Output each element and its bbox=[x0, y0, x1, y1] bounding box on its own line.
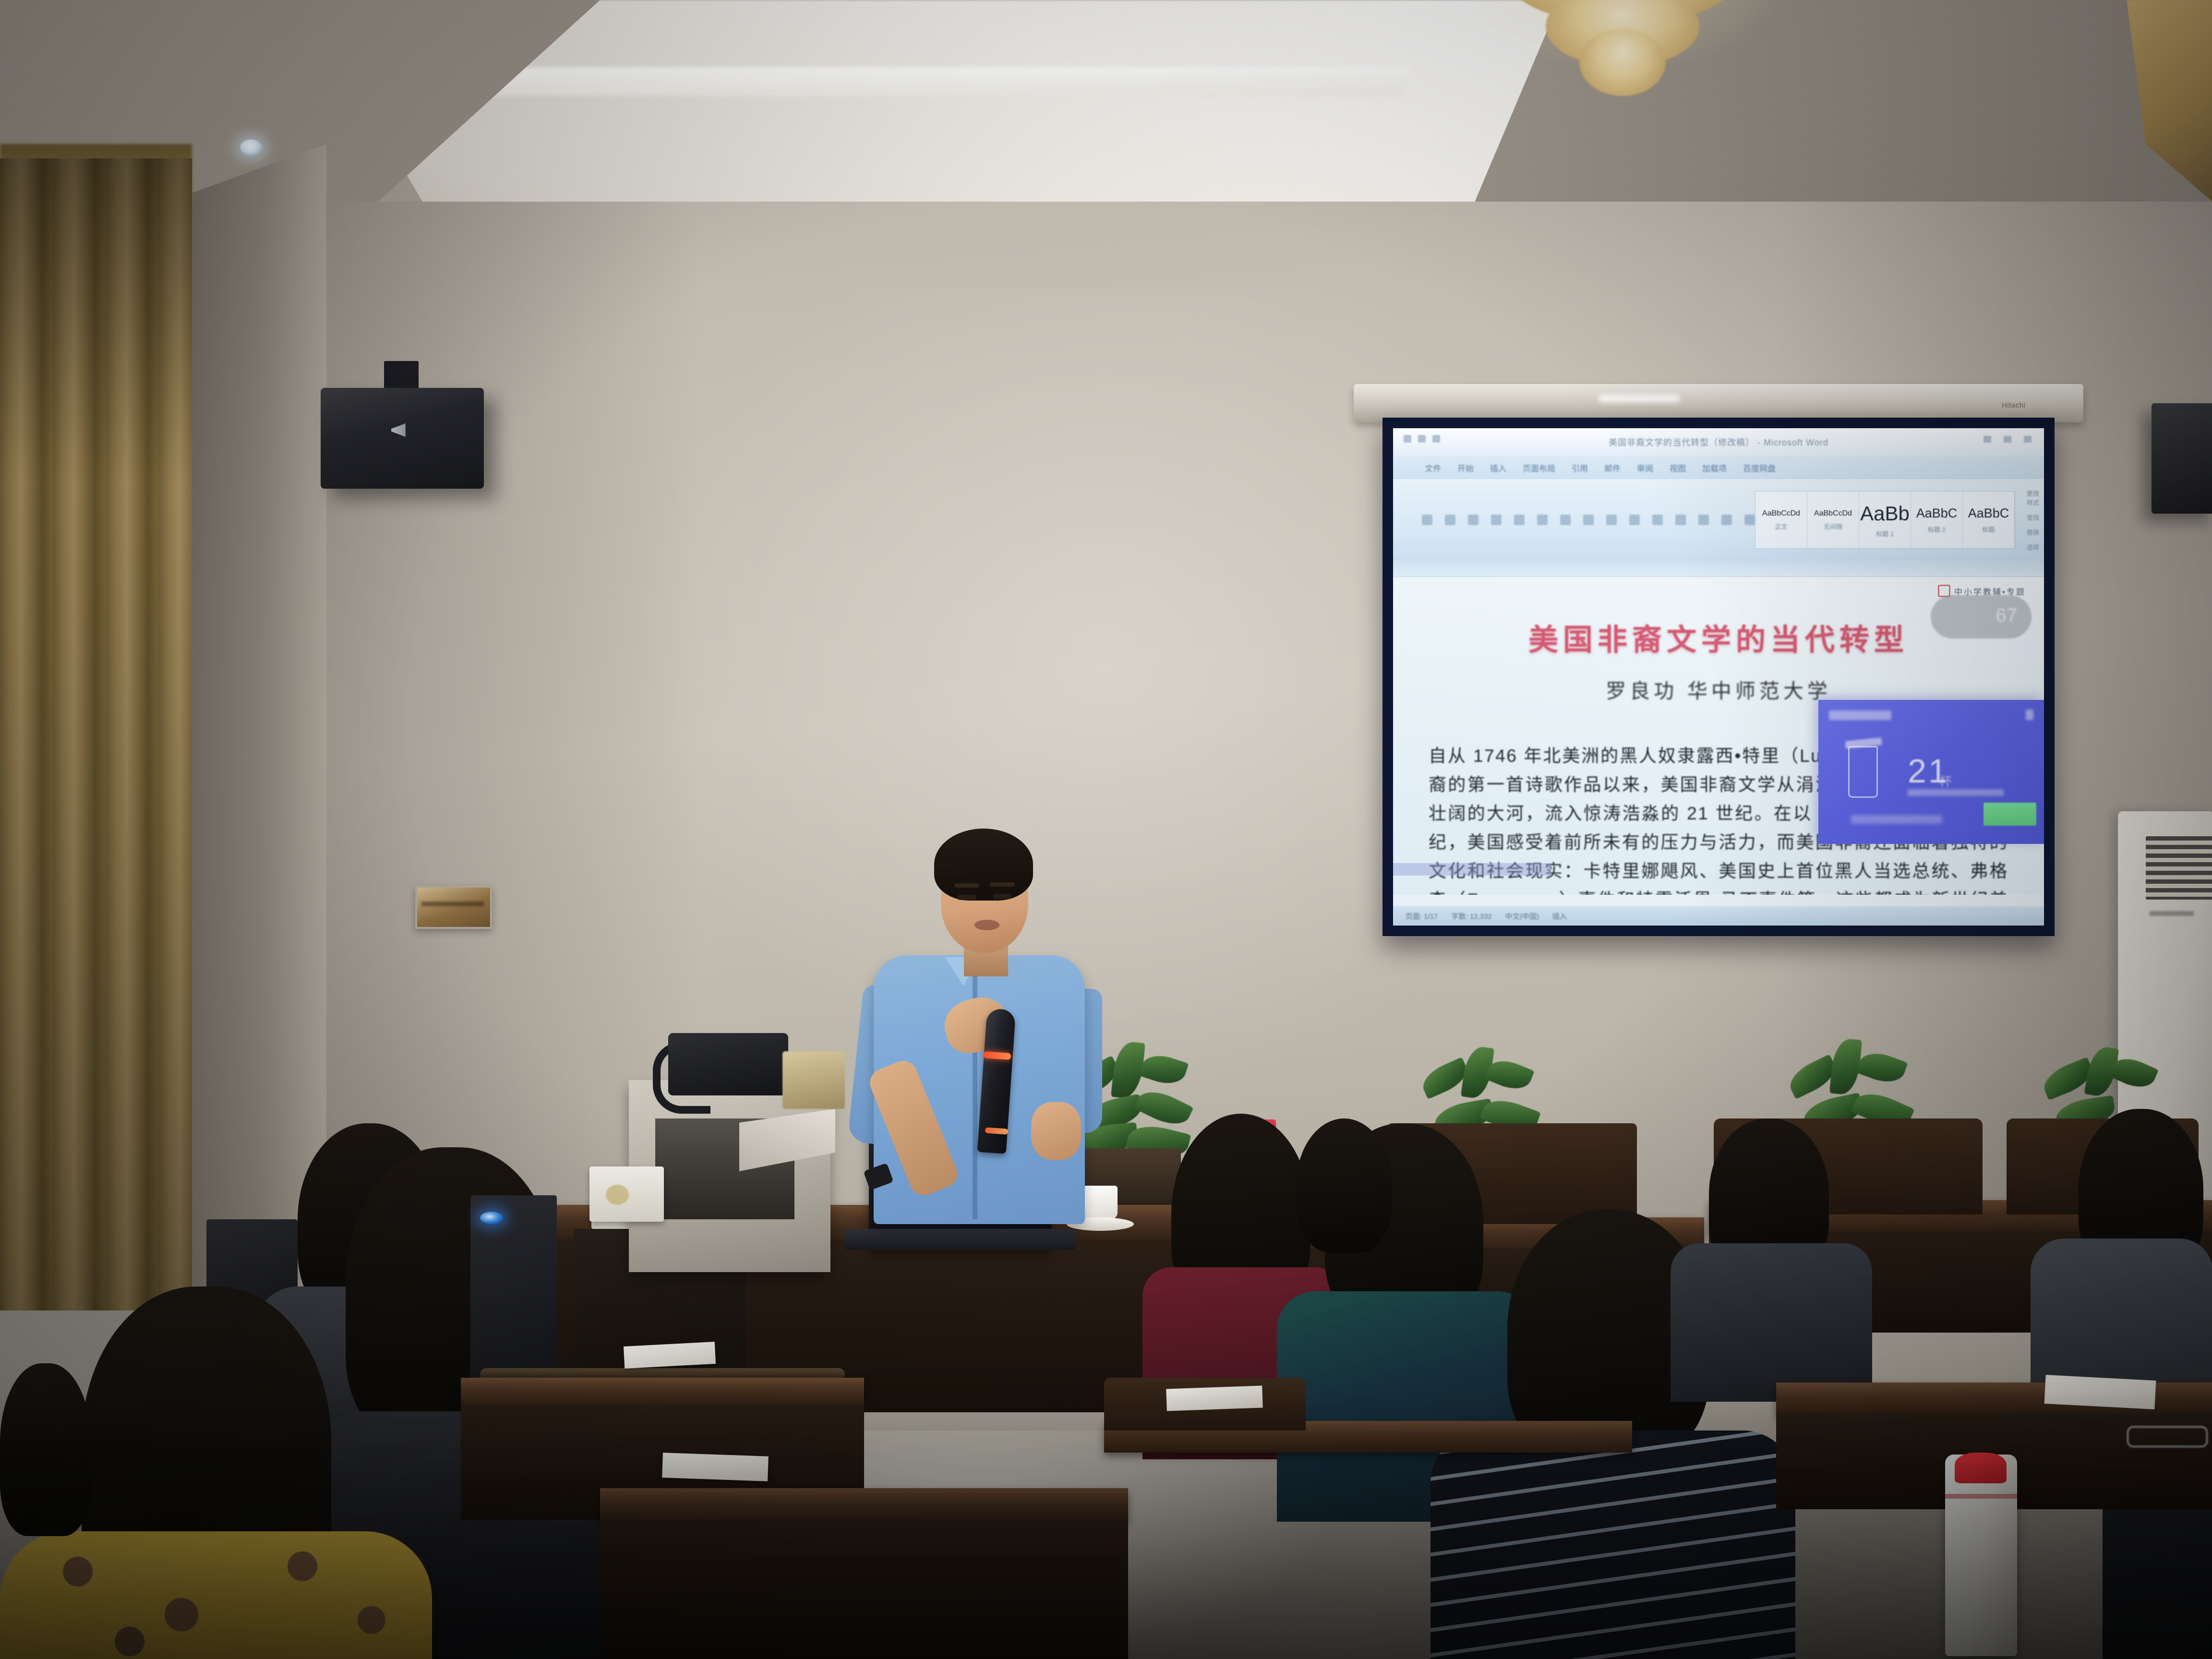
minimize-icon[interactable] bbox=[1984, 436, 1991, 443]
page-indicator: 页面: 1/17 bbox=[1406, 911, 1438, 921]
screen-case-highlight bbox=[1599, 395, 1680, 402]
align-center-icon[interactable] bbox=[1652, 515, 1663, 525]
save-icon[interactable] bbox=[1404, 435, 1411, 443]
ribbon-tab[interactable]: 插入 bbox=[1490, 462, 1506, 474]
numbering-icon[interactable] bbox=[1606, 515, 1617, 525]
wall-speaker-right bbox=[2152, 403, 2212, 514]
language-indicator: 中文(中国) bbox=[1505, 911, 1539, 921]
foreground-shadow bbox=[0, 1390, 2212, 1659]
style-name: 无间隔 bbox=[1824, 522, 1842, 531]
presenter-mouth bbox=[974, 920, 999, 930]
document-title: 美国非裔文学的当代转型（修改稿） - Microsoft Word bbox=[1609, 436, 1828, 448]
window-controls[interactable] bbox=[1984, 436, 2032, 443]
strikethrough-icon[interactable] bbox=[1537, 515, 1548, 525]
lecture-hall-photo: Hitachi 美国非裔文学的当代转型（修改稿） - Microsoft Wor… bbox=[0, 0, 2212, 1659]
align-left-icon[interactable] bbox=[1629, 515, 1640, 525]
style-item[interactable]: AaBbCcDd 正文 bbox=[1755, 492, 1807, 548]
style-preview: AaBbC bbox=[1968, 506, 2009, 521]
speaker-power-led-icon bbox=[480, 1212, 503, 1224]
ribbon-tab[interactable]: 邮件 bbox=[1604, 462, 1621, 474]
style-gallery[interactable]: AaBbCcDd 正文 AaBbCcDd 无间隔 AaBb 标题 1 AaBbC… bbox=[1755, 491, 2015, 549]
redo-icon[interactable] bbox=[1432, 435, 1440, 443]
ribbon-tab[interactable]: 审阅 bbox=[1637, 462, 1653, 474]
wall-plaque bbox=[415, 886, 492, 929]
bullets-icon[interactable] bbox=[1583, 515, 1594, 525]
style-name: 正文 bbox=[1775, 522, 1787, 531]
presenter-hair bbox=[934, 829, 1033, 901]
ac-brand-label bbox=[2150, 911, 2194, 916]
toast-unit: 杯 bbox=[1939, 772, 1952, 790]
ribbon-command-icons[interactable] bbox=[1393, 515, 1755, 525]
wall-plaque-text bbox=[421, 902, 484, 906]
style-name: 标题 1 bbox=[1876, 529, 1894, 538]
ribbon-tab[interactable]: 开始 bbox=[1457, 462, 1474, 474]
style-item[interactable]: AaBbCcDd 无间隔 bbox=[1807, 492, 1859, 548]
laptop-base bbox=[845, 1229, 1075, 1250]
word-title-bar: 美国非裔文学的当代转型（修改稿） - Microsoft Word bbox=[1393, 428, 2044, 456]
document-ruler[interactable] bbox=[1393, 561, 2044, 577]
change-styles-button[interactable]: 更改样式 bbox=[2027, 489, 2044, 507]
style-preview: AaBbC bbox=[1916, 506, 1958, 521]
toast-title bbox=[1829, 710, 1891, 720]
ribbon-tab[interactable]: 百度网盘 bbox=[1743, 462, 1776, 474]
ac-grille-icon bbox=[2146, 836, 2212, 900]
projection-screen: 美国非裔文学的当代转型（修改稿） - Microsoft Word 文件 开始 … bbox=[1382, 418, 2055, 936]
projected-image: 美国非裔文学的当代转型（修改稿） - Microsoft Word 文件 开始 … bbox=[1393, 428, 2044, 926]
eyebrow-left bbox=[954, 883, 979, 888]
bold-icon[interactable] bbox=[1468, 515, 1479, 525]
toast-footer-text bbox=[1851, 815, 1942, 824]
style-name: 标题 2 bbox=[1928, 525, 1946, 534]
toast-close-icon[interactable] bbox=[2026, 709, 2033, 720]
style-item[interactable]: AaBbC 标题 2 bbox=[1911, 492, 1963, 548]
curtain-shading bbox=[0, 158, 192, 1310]
borders-icon[interactable] bbox=[1744, 515, 1755, 525]
audience-head bbox=[1296, 1118, 1392, 1253]
maximize-icon[interactable] bbox=[2004, 436, 2011, 443]
bag-side-item bbox=[782, 1051, 845, 1109]
document-page[interactable]: 中小学教辅•专题 67 美国非裔文学的当代转型 罗良功 华中师范大学 自从 17… bbox=[1393, 577, 2044, 895]
font-icon[interactable] bbox=[1445, 515, 1455, 525]
ribbon-tab[interactable]: 页面布局 bbox=[1523, 462, 1555, 474]
speaker-bracket bbox=[384, 361, 419, 391]
projector-screen-case bbox=[1354, 384, 2083, 422]
ribbon-right-group[interactable]: 更改样式 查找 替换 选择 bbox=[2020, 489, 2044, 552]
word-count: 字数: 12,332 bbox=[1452, 911, 1492, 921]
toast-action-button[interactable] bbox=[1984, 803, 2036, 826]
style-preview: AaBbCcDd bbox=[1762, 509, 1800, 518]
style-preview: AaBb bbox=[1860, 502, 1910, 525]
style-item[interactable]: AaBbC 标题 bbox=[1963, 492, 2015, 548]
toast-subtext bbox=[1908, 789, 2004, 796]
notification-toast[interactable]: 21 杯 bbox=[1818, 700, 2044, 844]
find-button[interactable]: 查找 bbox=[2027, 513, 2044, 522]
align-right-icon[interactable] bbox=[1675, 515, 1686, 525]
ribbon-tab[interactable]: 加载项 bbox=[1702, 462, 1727, 474]
tissue-box-logo-icon bbox=[606, 1185, 629, 1205]
presenter-mic-hand bbox=[1031, 1102, 1081, 1160]
italic-icon[interactable] bbox=[1491, 515, 1502, 525]
paste-icon[interactable] bbox=[1422, 515, 1432, 525]
water-cup-icon bbox=[1848, 746, 1878, 798]
quick-access-toolbar[interactable] bbox=[1404, 435, 1440, 443]
chandelier-icon bbox=[1469, 0, 1776, 154]
replace-button[interactable]: 替换 bbox=[2027, 528, 2044, 537]
slide-title: 美国非裔文学的当代转型 bbox=[1429, 615, 2008, 659]
underline-icon[interactable] bbox=[1514, 515, 1525, 525]
shoulder-bag bbox=[668, 1033, 788, 1095]
audience-body bbox=[1671, 1243, 1872, 1402]
ribbon-tab[interactable]: 视图 bbox=[1670, 462, 1686, 474]
ribbon[interactable]: AaBbCcDd 正文 AaBbCcDd 无间隔 AaBb 标题 1 AaBbC… bbox=[1393, 479, 2044, 561]
style-item[interactable]: AaBb 标题 1 bbox=[1859, 492, 1911, 548]
downlight-icon bbox=[240, 139, 262, 156]
shading-icon[interactable] bbox=[1721, 515, 1732, 525]
close-icon[interactable] bbox=[2024, 436, 2032, 443]
text-selection-highlight bbox=[1393, 863, 1551, 876]
line-spacing-icon[interactable] bbox=[1698, 515, 1709, 525]
screen-brand-label: Hitachi bbox=[2002, 401, 2055, 410]
eyebrow-right bbox=[990, 882, 1015, 887]
eye-right bbox=[993, 894, 1012, 899]
text-color-icon[interactable] bbox=[1560, 515, 1571, 525]
ribbon-tab[interactable]: 引用 bbox=[1572, 462, 1588, 474]
style-preview: AaBbCcDd bbox=[1814, 509, 1852, 518]
style-name: 标题 bbox=[1982, 525, 1995, 534]
ribbon-tab-bar[interactable]: 文件 开始 插入 页面布局 引用 邮件 审阅 视图 加载项 百度网盘 bbox=[1393, 456, 2044, 479]
eye-left bbox=[957, 895, 976, 900]
select-button[interactable]: 选择 bbox=[2027, 542, 2044, 552]
ribbon-tab[interactable]: 文件 bbox=[1425, 462, 1441, 474]
teacup bbox=[1080, 1186, 1118, 1219]
wall-speaker-left bbox=[321, 388, 484, 489]
undo-icon[interactable] bbox=[1418, 435, 1426, 443]
insert-mode: 插入 bbox=[1552, 911, 1567, 921]
status-bar: 页面: 1/17 字数: 12,332 中文(中国) 插入 bbox=[1393, 906, 2044, 926]
